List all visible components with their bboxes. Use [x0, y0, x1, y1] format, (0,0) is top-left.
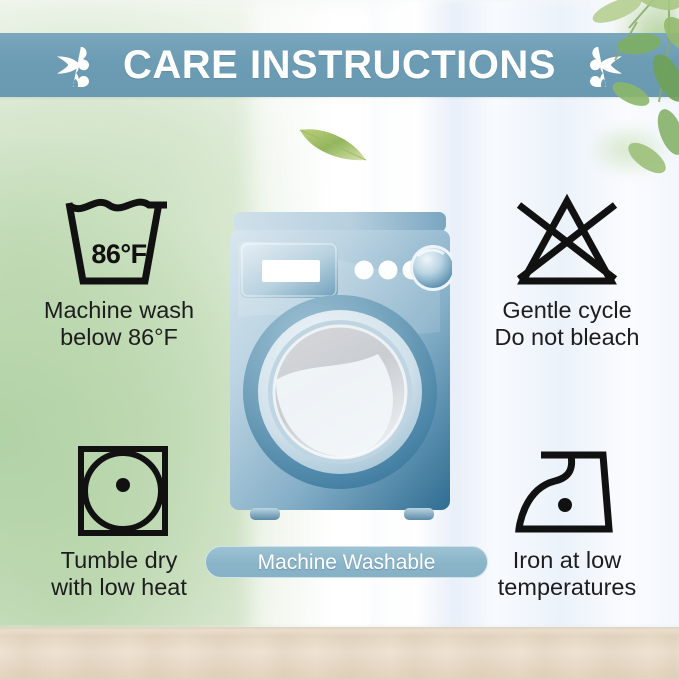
washer-top-lid	[234, 212, 446, 232]
badge-label: Machine Washable	[258, 552, 436, 573]
washer-drum-door	[243, 295, 437, 489]
care-item-do-not-bleach: Gentle cycle Do not bleach	[456, 193, 678, 352]
fleur-de-lis-icon	[49, 43, 107, 87]
care-instructions-infographic: CARE INSTRUCTIONS	[0, 0, 679, 679]
table-wood-grain	[0, 633, 679, 679]
floating-leaf-icon	[296, 122, 370, 166]
iron-icon	[507, 443, 627, 539]
front-load-washing-machine-illustration	[228, 212, 452, 530]
wash-tub-icon-wrap: 86°F	[59, 193, 179, 289]
do-not-bleach-triangle-icon	[507, 193, 627, 289]
iron-icon-wrap	[507, 443, 627, 539]
care-item-caption: Tumble dry with low heat	[8, 547, 230, 602]
do-not-bleach-icon-wrap	[507, 193, 627, 289]
decorative-foliage-icon	[519, 0, 679, 182]
care-item-caption: Gentle cycle Do not bleach	[456, 297, 678, 352]
wooden-table-surface	[0, 627, 679, 679]
care-item-machine-wash: 86°F Machine wash below 86°F	[8, 193, 230, 352]
tumble-dry-square-icon	[59, 443, 179, 539]
wash-temperature-value: 86°F	[59, 239, 179, 270]
care-item-iron: Iron at low temperatures	[456, 443, 678, 602]
machine-washable-badge: Machine Washable	[205, 546, 488, 578]
detergent-drawer	[240, 242, 338, 298]
care-item-tumble-dry: Tumble dry with low heat	[8, 443, 230, 602]
page-title: CARE INSTRUCTIONS	[123, 45, 556, 85]
tumble-dry-icon-wrap	[59, 443, 179, 539]
care-item-caption: Machine wash below 86°F	[8, 297, 230, 352]
care-item-caption: Iron at low temperatures	[456, 547, 678, 602]
